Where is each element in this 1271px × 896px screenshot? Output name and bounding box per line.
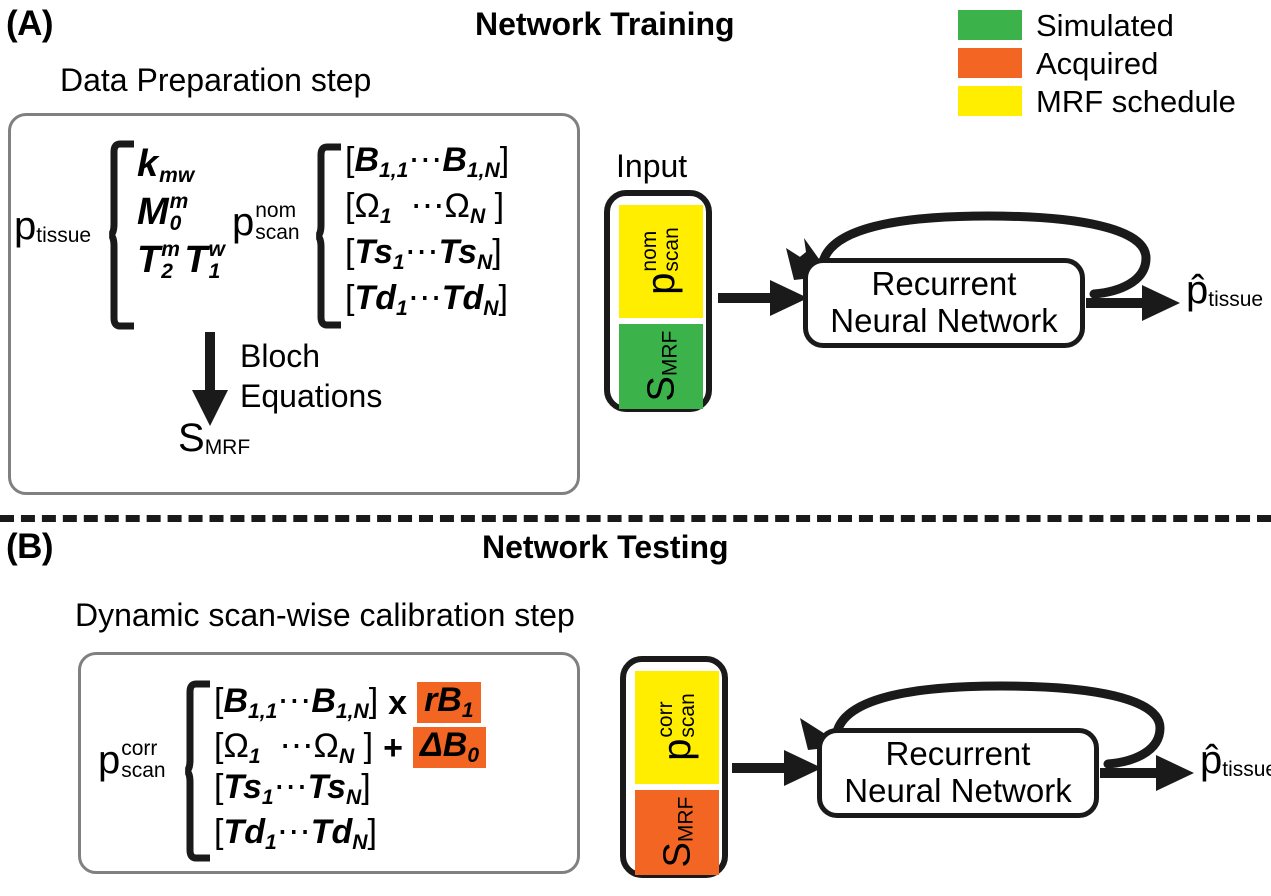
rnn-line-1-a: Recurrent	[872, 266, 1017, 303]
bracket-close: ]	[354, 727, 373, 765]
matrix-row: [B1,1⋯B1,N]	[345, 143, 509, 189]
row-dots: ⋯	[408, 279, 442, 317]
row-first-symbol: Td	[354, 279, 396, 317]
input-label-a: Input	[616, 148, 687, 185]
input-arrow-b	[732, 748, 828, 788]
tissue-param-base: T	[137, 241, 160, 279]
row-last-sub: N	[339, 744, 354, 767]
p-scan-sub: scan	[255, 222, 299, 244]
p-tissue-base: p	[14, 204, 36, 248]
row-first-sub: 1	[396, 297, 408, 320]
input-box-a: p nom scan SMRF	[604, 190, 712, 412]
row-last-symbol: Ts	[439, 233, 477, 271]
output-p-tissue-b: p̂tissue	[1200, 740, 1271, 780]
tissue-param-base: T	[184, 241, 207, 279]
chip-sub: MRF	[658, 331, 681, 377]
tissue-param-sub: 0	[170, 213, 189, 234]
bracket-close: ]	[368, 813, 377, 851]
bracket-close: ]	[499, 279, 508, 317]
rnn-box-b: Recurrent Neural Network	[817, 728, 1099, 818]
row-first-symbol: Ts	[354, 233, 392, 271]
scan-brace-b	[184, 680, 210, 862]
p-scan-base-b: p	[98, 741, 120, 779]
panel-divider	[0, 515, 1271, 522]
row-last-sub: N	[477, 251, 492, 274]
row-last-sub: 1,N	[336, 699, 369, 722]
highlight-rb1: rB1	[417, 682, 480, 724]
tissue-param-sup: w	[209, 239, 225, 260]
s-mrf-output-label: SMRF	[178, 418, 250, 458]
input-chip-signal-label-b: SMRF	[658, 797, 696, 868]
highlight-base: rB	[424, 681, 462, 719]
tissue-param-k-mw: k mw	[137, 140, 194, 188]
input-arrow-a	[718, 278, 814, 318]
legend-swatch-acquired	[958, 48, 1022, 78]
scan-brace-a	[315, 143, 341, 329]
input-chip-scan-label-a: p nom scan	[639, 228, 683, 296]
row-dots: ⋯	[405, 233, 439, 271]
row-operator: x	[388, 686, 407, 720]
input-chip-scan-a: p nom scan	[619, 205, 703, 318]
tissue-param-t2-m: T m2	[137, 236, 180, 284]
chip-base: S	[656, 843, 698, 868]
legend-label-mrf-schedule: MRF schedule	[1036, 86, 1236, 117]
row-last-symbol: Ω	[314, 727, 339, 765]
row-first-sub: 1	[380, 205, 392, 228]
chip-sub: MRF	[674, 797, 697, 843]
bracket-close: ]	[485, 187, 504, 225]
row-first-symbol: Ω	[223, 727, 248, 765]
row-first-sub: 1,1	[248, 699, 277, 722]
row-dots: ⋯	[392, 187, 445, 225]
input-chip-scan-label-b: p corr scan	[655, 694, 699, 762]
panel-a-step-title: Data Preparation step	[60, 62, 371, 99]
legend-label-simulated: Simulated	[1036, 10, 1174, 41]
p-tissue-sub: tissue	[36, 224, 91, 247]
row-last-symbol: Ts	[308, 768, 346, 806]
row-first-symbol: B	[223, 682, 248, 720]
row-last-symbol: Td	[442, 279, 484, 317]
row-dots: ⋯	[408, 141, 442, 179]
highlight-base: ΔB	[420, 726, 467, 764]
bracket-close: ]	[492, 233, 501, 271]
row-last-sub: N	[346, 786, 361, 809]
chip-sub: scan	[661, 228, 683, 272]
highlight-sub: 1	[462, 698, 474, 721]
tissue-brace	[108, 140, 134, 330]
matrix-row: [Ω1 ⋯ΩN ]	[345, 189, 509, 235]
row-dots: ⋯	[277, 813, 311, 851]
row-first-sub: 1	[262, 786, 274, 809]
legend: Simulated Acquired MRF schedule	[958, 6, 1236, 120]
matrix-row: [Ω1 ⋯ΩN ] + ΔB0	[214, 725, 486, 770]
legend-swatch-simulated	[958, 10, 1022, 40]
row-last-symbol: Td	[311, 813, 353, 851]
panel-b-step-title: Dynamic scan-wise calibration step	[75, 597, 575, 634]
row-last-sub: 1,N	[467, 159, 500, 182]
row-first-symbol: Ts	[223, 768, 261, 806]
row-last-symbol: Ω	[445, 187, 470, 225]
legend-item-mrf-schedule: MRF schedule	[958, 82, 1236, 120]
scan-matrix-a: [B1,1⋯B1,N] [Ω1 ⋯ΩN ] [Ts1⋯TsN] [Td1⋯TdN…	[345, 143, 509, 327]
row-first-symbol: B	[354, 141, 379, 179]
tissue-param-t1-w: T w1	[184, 236, 225, 284]
chip-base: S	[640, 377, 682, 402]
matrix-row: [B1,1⋯B1,N] x rB1	[214, 680, 486, 725]
chip-sub: scan	[677, 694, 699, 738]
row-last-sub: N	[483, 297, 498, 320]
row-first-sub: 1,1	[379, 159, 408, 182]
p-scan-sup-b: corr	[121, 738, 165, 760]
tissue-parameter-list: k mw M m0 T m2 T w1	[137, 140, 232, 284]
bracket-close: ]	[500, 141, 509, 179]
scan-matrix-b: [B1,1⋯B1,N] x rB1 [Ω1 ⋯ΩN ] + ΔB0 [Ts1⋯T…	[214, 680, 486, 860]
output-base: p̂	[1200, 738, 1222, 782]
tissue-param-sub: 1	[209, 261, 225, 282]
bloch-line-1: Bloch	[240, 336, 382, 376]
p-tissue-label: ptissue	[14, 206, 91, 246]
matrix-row: [Ts1⋯TsN]	[214, 770, 486, 815]
bracket-close: ]	[369, 682, 378, 720]
row-operator: +	[383, 731, 403, 765]
output-sub: tissue	[1222, 758, 1271, 781]
row-dots: ⋯	[261, 727, 314, 765]
panel-b-letter: (B)	[6, 527, 53, 567]
row-first-sub: 1	[249, 744, 261, 767]
matrix-row: [Td1⋯TdN]	[345, 281, 509, 327]
row-first-sub: 1	[265, 831, 277, 854]
tissue-param-sub: 2	[161, 261, 180, 282]
output-arrow-b	[1100, 753, 1196, 793]
output-sub: tissue	[1208, 288, 1263, 311]
rnn-line-2-a: Neural Network	[830, 303, 1057, 340]
legend-label-acquired: Acquired	[1036, 48, 1158, 79]
row-first-symbol: Ω	[354, 187, 379, 225]
input-chip-signal-a: SMRF	[619, 324, 703, 409]
output-arrow-a	[1086, 283, 1182, 323]
output-p-tissue-a: p̂tissue	[1186, 270, 1263, 310]
row-dots: ⋯	[277, 682, 311, 720]
legend-item-simulated: Simulated	[958, 6, 1236, 44]
row-last-sub: N	[470, 205, 485, 228]
tissue-param-sub: mw	[159, 165, 194, 186]
row-last-symbol: B	[311, 682, 336, 720]
p-scan-nom-label: p nom scan	[232, 200, 300, 244]
output-base: p̂	[1186, 268, 1208, 312]
p-scan-corr-label: p corr scan	[98, 738, 166, 782]
p-scan-base: p	[232, 203, 254, 241]
bracket-close: ]	[361, 768, 370, 806]
chip-sup: corr	[655, 694, 677, 738]
rnn-box-a: Recurrent Neural Network	[803, 258, 1085, 348]
bloch-line-2: Equations	[240, 376, 382, 416]
p-scan-sub-b: scan	[121, 760, 165, 782]
tissue-param-sup: m	[161, 239, 180, 260]
chip-sup: nom	[639, 228, 661, 272]
rnn-line-1-b: Recurrent	[886, 736, 1031, 773]
bloch-arrow	[186, 332, 234, 428]
highlight-delta-b0: ΔB0	[413, 727, 486, 769]
chip-base: p	[658, 739, 696, 761]
matrix-row: [Td1⋯TdN]	[214, 815, 486, 860]
tissue-param-base: M	[137, 193, 169, 231]
panel-b-title: Network Testing	[482, 529, 729, 566]
rnn-line-2-b: Neural Network	[844, 773, 1071, 810]
bloch-equations-label: Bloch Equations	[240, 336, 382, 416]
matrix-row: [Ts1⋯TsN]	[345, 235, 509, 281]
legend-swatch-mrf-schedule	[958, 86, 1022, 116]
row-last-symbol: B	[442, 141, 467, 179]
panel-a-title: Network Training	[475, 6, 735, 43]
tissue-param-base: k	[137, 145, 158, 183]
row-dots: ⋯	[274, 768, 308, 806]
legend-item-acquired: Acquired	[958, 44, 1236, 82]
input-chip-signal-b: SMRF	[635, 790, 719, 875]
panel-a-letter: (A)	[6, 4, 53, 44]
input-chip-scan-b: p corr scan	[635, 671, 719, 784]
input-chip-signal-label-a: SMRF	[642, 331, 680, 402]
tissue-param-sup: m	[170, 191, 189, 212]
highlight-sub: 0	[467, 743, 479, 766]
s-mrf-sub: MRF	[205, 436, 251, 459]
input-box-b: p corr scan SMRF	[620, 656, 728, 878]
chip-base: p	[642, 273, 680, 295]
tissue-param-m0-m: M m0	[137, 188, 188, 236]
s-mrf-base: S	[178, 416, 205, 460]
row-first-sub: 1	[393, 251, 405, 274]
row-first-symbol: Td	[223, 813, 265, 851]
row-last-sub: N	[352, 831, 367, 854]
p-scan-sup: nom	[255, 200, 299, 222]
